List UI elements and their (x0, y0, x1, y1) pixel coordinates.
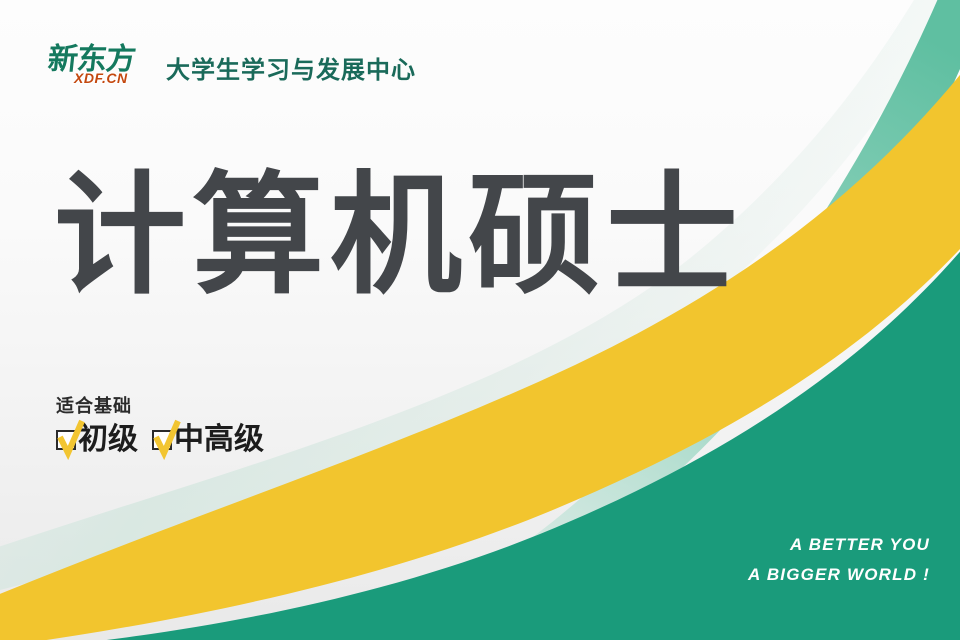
checkbox-advanced[interactable] (152, 430, 172, 450)
slogan-line-1: A BETTER YOU (748, 530, 930, 560)
xdf-logo: 新东方 XDF.CN (48, 46, 152, 94)
slogan-block: A BETTER YOU A BIGGER WORLD ! (748, 530, 930, 590)
brand-header: 新东方 XDF.CN 大学生学习与发展中心 (48, 46, 416, 94)
basis-option-beginner-label: 初级 (78, 424, 138, 456)
page-title: 计算机硕士 (54, 158, 744, 314)
center-name: 大学生学习与发展中心 (166, 56, 416, 84)
logo-latin-text: XDF.CN (74, 71, 128, 86)
basis-option-beginner[interactable]: 初级 (56, 424, 138, 456)
basis-option-advanced-label: 中高级 (174, 424, 264, 456)
checkbox-beginner[interactable] (56, 430, 76, 450)
basis-option-list: 初级 中高级 (56, 424, 264, 456)
check-icon (57, 419, 85, 459)
poster-canvas: 新东方 XDF.CN 大学生学习与发展中心 计算机硕士 适合基础 初级 (0, 0, 960, 640)
slogan-line-2: A BIGGER WORLD ! (748, 560, 930, 590)
basis-option-advanced[interactable]: 中高级 (152, 424, 264, 456)
basis-label: 适合基础 (56, 396, 264, 418)
check-icon (153, 419, 181, 459)
suitable-basis-block: 适合基础 初级 中高级 (56, 396, 264, 456)
